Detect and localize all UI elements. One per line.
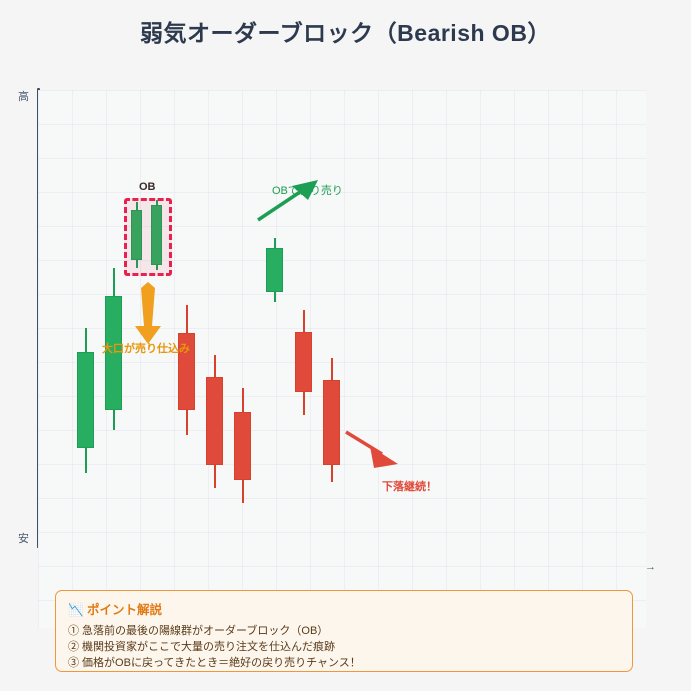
candle-body: [323, 380, 340, 465]
candle-9: [295, 310, 312, 415]
notes-panel: 📉 ポイント解説 ① 急落前の最後の陽線群がオーダーブロック（OB） ② 機関投…: [55, 590, 633, 672]
candle-1: [77, 328, 94, 473]
note-line: ③ 価格がOBに戻ってきたとき＝絶好の戻り売りチャンス！: [68, 655, 620, 671]
candle-body: [234, 412, 251, 480]
candle-body: [206, 377, 223, 465]
annotation-red-text: 下落継続！: [382, 478, 437, 494]
candle-5: [178, 305, 195, 435]
candlestick-chart: 高 安 時間 → OB 大口が売り仕込み OBで戻り売り 下落継続！: [0, 80, 691, 580]
page-title: 弱気オーダーブロック（Bearish OB）: [0, 14, 691, 48]
candle-body: [266, 248, 283, 292]
candle-body: [77, 352, 94, 448]
candle-10: [323, 358, 340, 482]
candle-6: [206, 355, 223, 488]
notes-title: 📉 ポイント解説: [68, 599, 620, 618]
candle-7: [234, 388, 251, 503]
candle-8: [266, 238, 283, 302]
note-line: ① 急落前の最後の陽線群がオーダーブロック（OB）: [68, 623, 620, 639]
red-down-arrow-icon: [344, 430, 414, 476]
y-axis-high-label: 高: [18, 88, 29, 104]
annotation-orange-text: 大口が売り仕込み: [102, 340, 190, 356]
candle-body: [295, 332, 312, 392]
y-axis-low-label: 安: [18, 530, 29, 546]
annotation-green-text: OBで戻り売り: [272, 182, 343, 198]
orange-down-arrow-icon: [133, 282, 163, 344]
note-line: ② 機関投資家がここで大量の売り注文を仕込んだ痕跡: [68, 639, 620, 655]
plot-area: OB 大口が売り仕込み OBで戻り売り 下落継続！: [38, 90, 646, 628]
order-block-zone: [124, 198, 172, 276]
order-block-label: OB: [139, 181, 156, 193]
